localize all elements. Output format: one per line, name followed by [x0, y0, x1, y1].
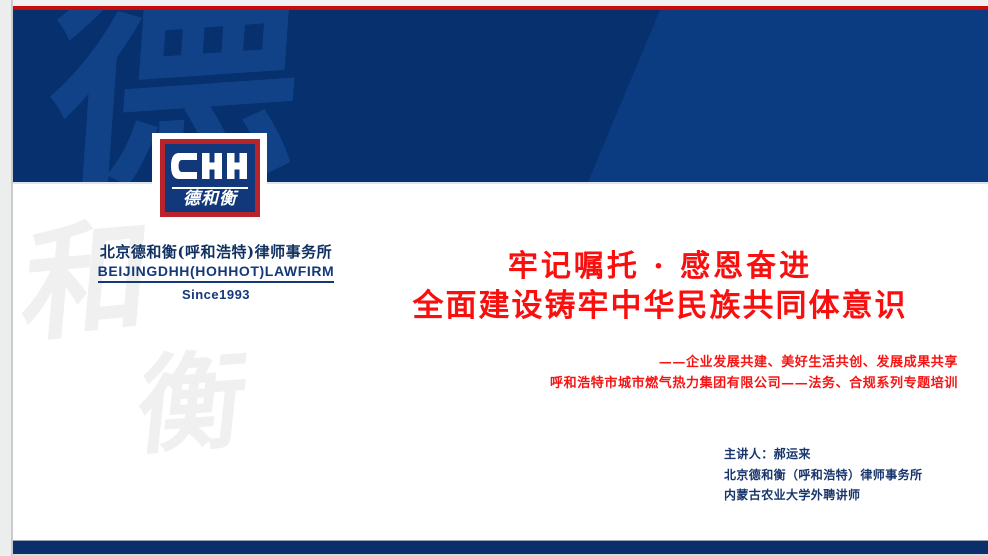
dhh-logo: 德和衡: [160, 139, 260, 217]
title-line-1: 牢记嘱托 · 感恩奋进: [360, 248, 960, 286]
firm-since-label: Since1993: [86, 285, 346, 305]
subtitle-line-1: ——企业发展共建、美好生活共创、发展成果共享: [380, 352, 958, 373]
watermark-heng-character: 衡: [132, 346, 253, 461]
title-line-2: 全面建设铸牢中华民族共同体意识: [360, 286, 960, 327]
speaker-info-block: 主讲人：郝运来 北京德和衡（呼和浩特）律师事务所 内蒙古农业大学外聘讲师: [724, 444, 964, 506]
logo-inner-panel: 德和衡: [165, 144, 255, 212]
subtitle-line-2: 呼和浩特市城市燃气热力集团有限公司——法务、合规系列专题培训: [380, 373, 958, 394]
slide-title-block: 牢记嘱托 · 感恩奋进 全面建设铸牢中华民族共同体意识: [360, 248, 960, 327]
logo-dhh-glyphs: [171, 151, 249, 181]
page-gutter-top: [0, 0, 988, 6]
logo-acronym-dhh: [165, 146, 255, 186]
firm-identity-block: 北京德和衡(呼和浩特)律师事务所 BEIJINGDHH(HOHHOT)LAWFI…: [86, 243, 346, 304]
firm-name-english: BEIJINGDHH(HOHHOT)LAWFIRM: [98, 262, 335, 283]
top-red-rule: [12, 6, 988, 10]
page-gutter-left-edge: [11, 0, 13, 556]
footer-navy-bar: [12, 540, 988, 554]
firm-name-chinese: 北京德和衡(呼和浩特)律师事务所: [86, 243, 346, 262]
logo-chinese-name: 德和衡: [183, 191, 237, 210]
slide-subtitle-block: ——企业发展共建、美好生活共创、发展成果共享 呼和浩特市城市燃气热力集团有限公司…: [380, 352, 958, 395]
speaker-name-line: 主讲人：郝运来: [724, 444, 964, 465]
presentation-slide: 德 和 衡 德和衡: [0, 0, 988, 556]
speaker-affiliation-line: 北京德和衡（呼和浩特）律师事务所: [724, 465, 964, 486]
header-diagonal-wedge: [588, 10, 988, 182]
speaker-title-line: 内蒙古农业大学外聘讲师: [724, 485, 964, 506]
